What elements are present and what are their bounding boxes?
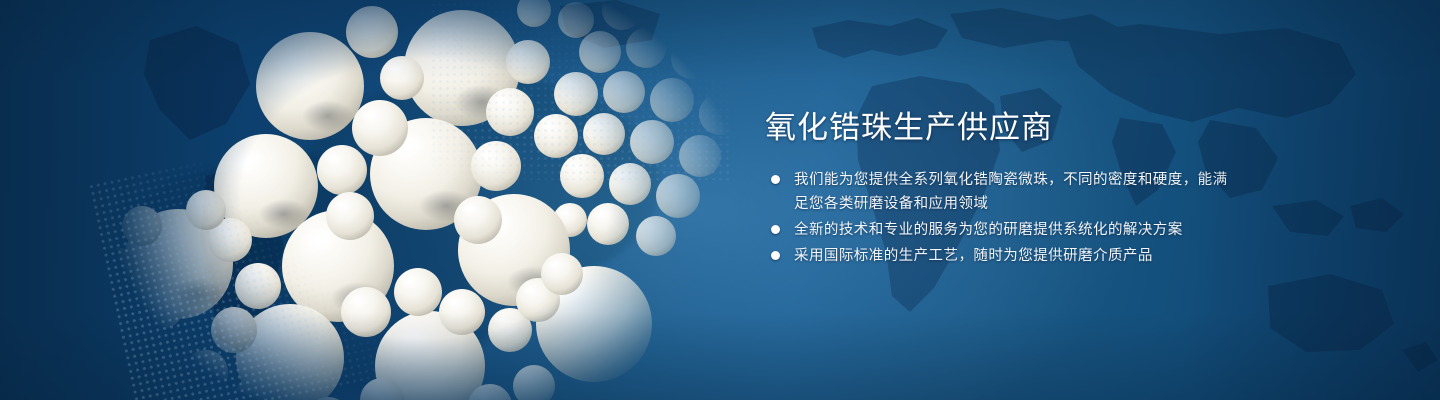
list-item: 全新的技术和专业的服务为您的研磨提供系统化的解决方案 bbox=[767, 218, 1237, 242]
feature-text: 全新的技术和专业的服务为您的研磨提供系统化的解决方案 bbox=[794, 218, 1237, 242]
banner-copy: 氧化锆珠生产供应商 我们能为您提供全系列氧化锆陶瓷微珠，不同的密度和硬度，能满足… bbox=[765, 0, 1325, 400]
list-item: 我们能为您提供全系列氧化锆陶瓷微珠，不同的密度和硬度，能满足您各类研磨设备和应用… bbox=[767, 168, 1237, 216]
hero-banner: 氧化锆珠生产供应商 我们能为您提供全系列氧化锆陶瓷微珠，不同的密度和硬度，能满足… bbox=[0, 0, 1440, 400]
bullet-dot-icon bbox=[771, 225, 780, 234]
bullet-dot-icon bbox=[771, 175, 780, 184]
feature-text: 我们能为您提供全系列氧化锆陶瓷微珠，不同的密度和硬度，能满足您各类研磨设备和应用… bbox=[794, 168, 1237, 216]
banner-headline: 氧化锆珠生产供应商 bbox=[765, 108, 1053, 148]
bullet-dot-icon bbox=[771, 251, 780, 260]
zirconia-beads-image bbox=[10, 0, 770, 400]
list-item: 采用国际标准的生产工艺，随时为您提供研磨介质产品 bbox=[767, 244, 1237, 268]
feature-text: 采用国际标准的生产工艺，随时为您提供研磨介质产品 bbox=[794, 244, 1237, 268]
feature-list: 我们能为您提供全系列氧化锆陶瓷微珠，不同的密度和硬度，能满足您各类研磨设备和应用… bbox=[767, 168, 1237, 270]
